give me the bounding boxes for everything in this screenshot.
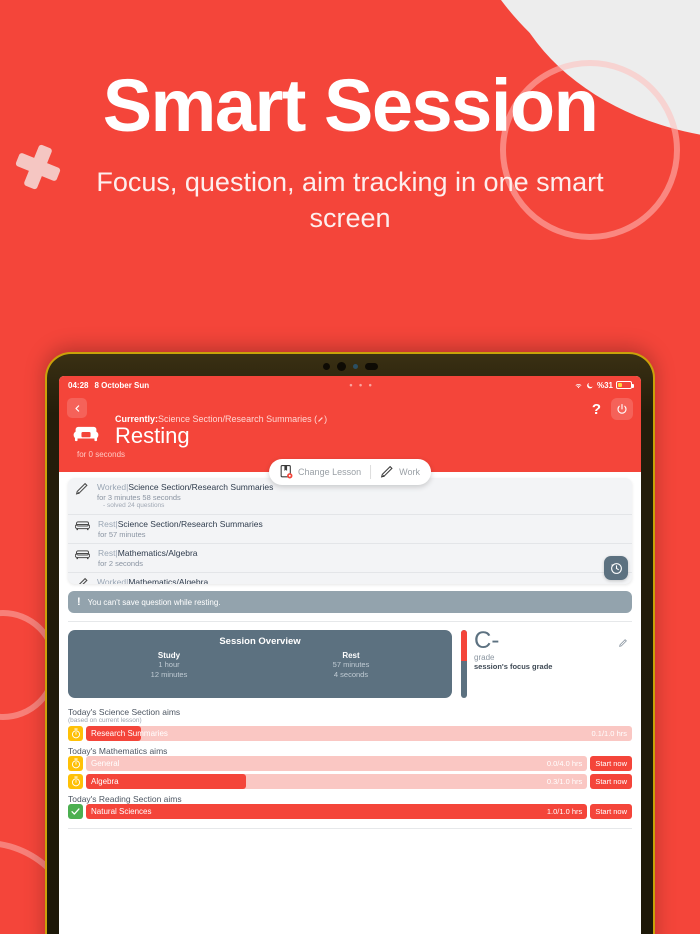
lesson-log-title: Worked|Mathematics/Algebra (97, 577, 208, 584)
lesson-log-row[interactable]: Rest|Science Section/Research Summariesf… (68, 515, 632, 544)
warning-banner: ! You can't save question while resting. (68, 591, 632, 613)
sensor-dot (353, 364, 358, 369)
timer-icon (71, 776, 81, 787)
app-body: Worked|Science Section/Research Summarie… (59, 478, 641, 934)
aim-hours: 0.1/1.0 hrs (592, 726, 627, 741)
rest-value-line1: 57 minutes (260, 660, 442, 670)
header-actions: ? (592, 398, 633, 420)
sofa-icon (75, 519, 90, 537)
sofa-icon (73, 424, 99, 444)
aims-group-heading: Today's Reading Section aims (68, 794, 632, 804)
lesson-log-row[interactable]: Worked|Mathematics/Algebrafor 7 minutes … (68, 573, 632, 584)
battery-icon (616, 381, 632, 389)
timer-icon (71, 758, 81, 769)
pencil-icon (75, 482, 89, 501)
lesson-log-subject: Science Section/Research Summaries (118, 519, 263, 529)
grade-card: C- grade session's focus grade (452, 630, 632, 698)
pill-divider (370, 465, 371, 479)
aim-progress-bar[interactable]: General0.0/4.0 hrs (86, 756, 587, 771)
tablet-camera-array (47, 362, 653, 371)
current-state-label: Resting (115, 424, 631, 447)
start-now-button[interactable]: Start now (590, 804, 632, 819)
pencil-icon (75, 577, 89, 584)
timer-icon (71, 728, 81, 739)
power-icon (616, 403, 628, 415)
aim-hours: 0.3/1.0 hrs (547, 774, 582, 789)
section-divider-bottom (68, 828, 632, 829)
timer-icon[interactable] (68, 774, 83, 789)
overview-and-grade: Session Overview Study 1 hour 12 minutes… (68, 630, 632, 698)
check-icon[interactable] (68, 804, 83, 819)
wifi-icon (574, 381, 583, 390)
grade-text-block: C- grade session's focus grade (467, 630, 552, 671)
aim-progress-fill (86, 804, 587, 819)
lesson-log-subject: Mathematics/Algebra (118, 548, 198, 558)
aims-section: Today's Science Section aims(based on cu… (68, 707, 632, 819)
sofa-icon (75, 549, 90, 561)
currently-paren-close: ) (324, 414, 327, 424)
aims-group-subheading: (based on current lesson) (68, 717, 632, 724)
aim-name: Algebra (91, 774, 119, 789)
lesson-log-action: Rest| (98, 519, 118, 529)
study-value-line2: 12 minutes (78, 670, 260, 680)
status-bar-left: 04:28 8 October Sun (68, 381, 149, 390)
lesson-log-action: Worked| (97, 577, 128, 584)
lesson-log-text: Rest|Science Section/Research Summariesf… (98, 519, 263, 539)
aim-progress-bar[interactable]: Natural Sciences1.0/1.0 hrs (86, 804, 587, 819)
rest-value-line2: 4 seconds (260, 670, 442, 680)
pencil-icon (75, 482, 89, 496)
work-button[interactable]: Work (380, 465, 420, 479)
app-header: ? Curr (59, 394, 641, 472)
sofa-icon (75, 520, 90, 532)
lesson-log-text: Rest|Mathematics/Algebrafor 2 seconds (98, 548, 198, 568)
study-label: Study (78, 651, 260, 660)
battery-fill (618, 383, 622, 387)
back-button[interactable] (67, 398, 87, 418)
lesson-log-rows: Worked|Science Section/Research Summarie… (68, 478, 632, 584)
lesson-log-duration: for 3 minutes 58 seconds (97, 493, 273, 502)
lesson-log-subject: Science Section/Research Summaries (128, 482, 273, 492)
status-time: 04:28 (68, 381, 88, 390)
power-button[interactable] (611, 398, 633, 420)
status-date: 8 October Sun (94, 381, 149, 390)
aim-row: Natural Sciences1.0/1.0 hrsStart now (68, 804, 632, 819)
aims-group-heading: Today's Science Section aims (68, 707, 632, 717)
change-lesson-button[interactable]: Change Lesson (280, 465, 361, 479)
aim-row: Algebra0.3/1.0 hrsStart now (68, 774, 632, 789)
camera-dot (323, 363, 330, 370)
lesson-log-text: Worked|Mathematics/Algebrafor 7 minutes … (97, 577, 208, 584)
grade-edit-pencil-icon[interactable] (618, 638, 628, 648)
aim-hours: 1.0/1.0 hrs (547, 804, 582, 819)
current-activity-block: Currently:Science Section/Research Summa… (115, 400, 631, 459)
battery-percent-label: %31 (597, 381, 613, 390)
history-clock-icon (610, 562, 623, 575)
timer-icon[interactable] (68, 756, 83, 771)
lesson-log-duration: for 57 minutes (98, 530, 263, 539)
book-gear-icon (280, 465, 293, 479)
work-label: Work (399, 467, 420, 477)
poster-text-block: Smart Session Focus, question, aim track… (0, 0, 700, 237)
change-lesson-label: Change Lesson (298, 467, 361, 477)
tablet-device-frame: 04:28 8 October Sun • • • %31 (45, 352, 655, 934)
lesson-log-title: Rest|Mathematics/Algebra (98, 548, 198, 559)
status-bar: 04:28 8 October Sun • • • %31 (59, 376, 641, 394)
exclamation-icon: ! (77, 596, 81, 608)
current-duration-label: for 0 seconds (77, 450, 631, 459)
action-pill: Change Lesson Work (269, 459, 431, 485)
lesson-log-card: Worked|Science Section/Research Summarie… (68, 478, 632, 584)
tablet-screen: 04:28 8 October Sun • • • %31 (59, 376, 641, 934)
start-now-button[interactable]: Start now (590, 756, 632, 771)
grade-description: session's focus grade (474, 662, 552, 671)
aims-group-heading: Today's Mathematics aims (68, 746, 632, 756)
aim-name: Natural Sciences (91, 804, 151, 819)
grade-sublabel: grade (474, 653, 552, 662)
poster: Smart Session Focus, question, aim track… (0, 0, 700, 934)
overview-column-rest: Rest 57 minutes 4 seconds (260, 651, 442, 680)
history-button[interactable] (604, 556, 628, 580)
aim-name: Research Summaries (91, 726, 168, 741)
session-overview-card: Session Overview Study 1 hour 12 minutes… (68, 630, 452, 698)
warning-text: You can't save question while resting. (88, 598, 221, 607)
aim-progress-bar[interactable]: Algebra0.3/1.0 hrs (86, 774, 587, 789)
moon-icon (586, 381, 594, 390)
session-overview-title: Session Overview (78, 636, 442, 647)
check-icon (70, 806, 81, 817)
speaker-slot (365, 363, 378, 370)
aim-progress-bar[interactable]: Research Summaries0.1/1.0 hrs (86, 726, 632, 741)
camera-dot-large (337, 362, 346, 371)
pencil-icon (380, 465, 394, 479)
aim-hours: 0.0/4.0 hrs (547, 756, 582, 771)
poster-headline: Smart Session (0, 68, 700, 143)
rest-label: Rest (260, 651, 442, 660)
section-divider-top (68, 621, 632, 622)
lesson-log-detail: - solved 24 questions (97, 502, 273, 510)
lesson-log-title: Worked|Science Section/Research Summarie… (97, 482, 273, 493)
aim-row: General0.0/4.0 hrsStart now (68, 756, 632, 771)
lesson-log-action: Worked| (97, 482, 128, 492)
start-now-button[interactable]: Start now (590, 774, 632, 789)
session-overview-columns: Study 1 hour 12 minutes Rest 57 minutes … (78, 651, 442, 680)
help-button[interactable]: ? (592, 401, 601, 418)
sofa-icon (75, 548, 90, 566)
status-center-dots: • • • (149, 380, 574, 390)
grade-letter: C- (474, 630, 552, 652)
study-value-line1: 1 hour (78, 660, 260, 670)
overview-column-study: Study 1 hour 12 minutes (78, 651, 260, 680)
lesson-log-action: Rest| (98, 548, 118, 558)
status-bar-right: %31 (574, 381, 632, 390)
aim-name: General (91, 756, 119, 771)
lesson-log-row[interactable]: Rest|Mathematics/Algebrafor 2 seconds (68, 544, 632, 573)
lesson-log-title: Rest|Science Section/Research Summaries (98, 519, 263, 530)
timer-icon[interactable] (68, 726, 83, 741)
aim-row: Research Summaries0.1/1.0 hrs (68, 726, 632, 741)
pencil-icon (75, 577, 89, 584)
chevron-left-icon (73, 404, 82, 413)
lesson-log-duration: for 2 seconds (98, 559, 198, 568)
lesson-log-text: Worked|Science Section/Research Summarie… (97, 482, 273, 510)
poster-subheadline: Focus, question, aim tracking in one sma… (0, 165, 700, 236)
lesson-log-subject: Mathematics/Algebra (128, 577, 208, 584)
